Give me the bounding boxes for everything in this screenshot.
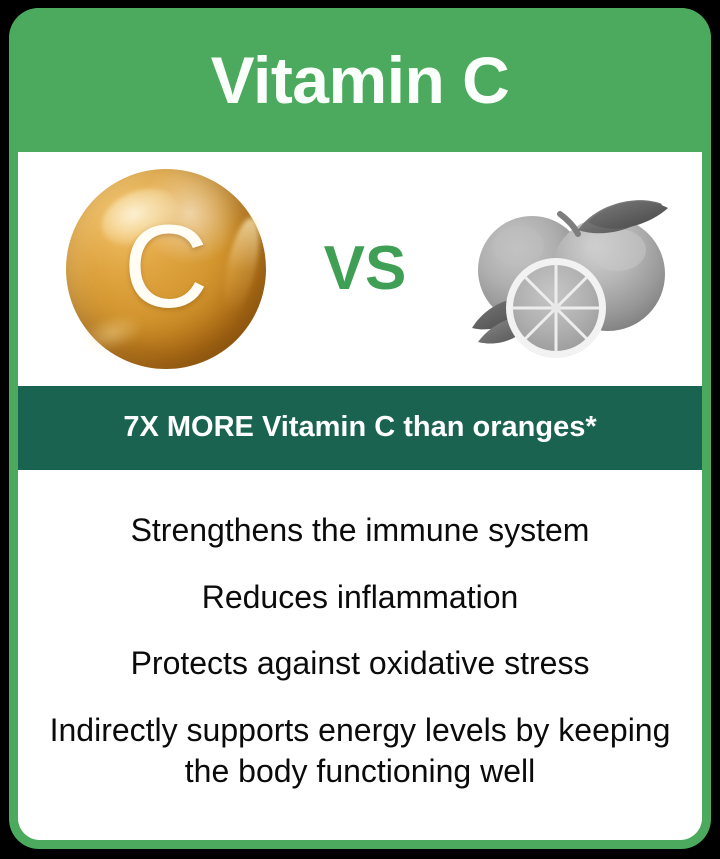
page-title: Vitamin C xyxy=(191,47,530,113)
claim-text: 7X MORE Vitamin C than oranges* xyxy=(107,412,612,444)
card-header: Vitamin C xyxy=(9,8,711,152)
oranges-photo-icon xyxy=(460,174,688,364)
vitamin-c-infographic-card: Vitamin C C VS xyxy=(9,8,711,849)
card-body: C VS xyxy=(18,152,702,840)
vitamin-c-sphere-icon: C xyxy=(66,169,266,369)
versus-label: VS xyxy=(324,238,407,300)
list-item: Indirectly supports energy levels by kee… xyxy=(44,710,676,792)
sphere-letter-label: C xyxy=(66,169,266,369)
list-item: Protects against oxidative stress xyxy=(131,643,590,684)
list-item: Strengthens the immune system xyxy=(131,510,590,551)
list-item: Reduces inflammation xyxy=(202,577,519,618)
claim-banner: 7X MORE Vitamin C than oranges* xyxy=(18,386,702,470)
comparison-row: C VS xyxy=(18,152,702,386)
benefits-list: Strengthens the immune system Reduces in… xyxy=(18,470,702,840)
